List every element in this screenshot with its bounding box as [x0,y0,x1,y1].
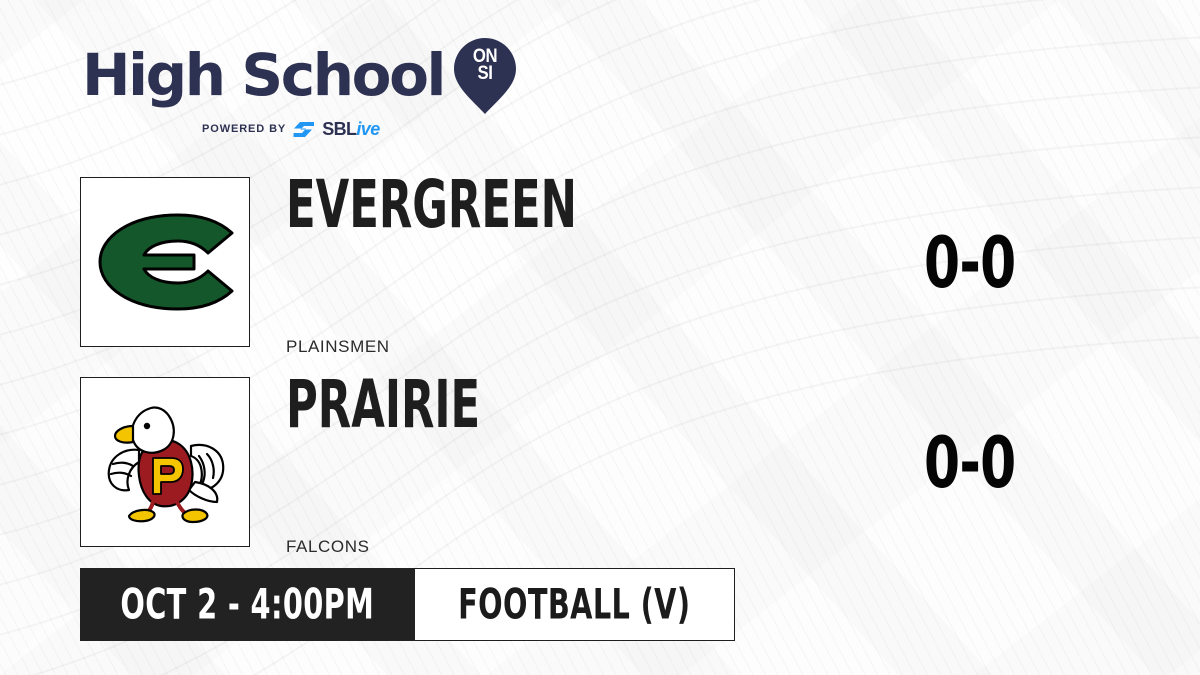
sblive-s-mark-icon [293,121,315,138]
score-away-value: 0-0 [924,428,1015,498]
scoreboard-graphic: High School ON SI POWERED BY SBLive [0,0,1200,675]
team-name-home: EVERGREEN [286,172,577,238]
game-datetime-text: OCT 2 - 4:00PM [121,584,375,626]
brand-title: High School [82,46,444,104]
location-pin-icon: ON SI [454,38,516,114]
partner-wordmark-ive: ive [356,119,379,139]
game-sport-block: FOOTBALL (V) [415,568,735,641]
team-mascot-away: FALCONS [286,537,370,557]
evergreen-plainsmen-logo [80,177,250,347]
matchup-row-home: EVERGREEN PLAINSMEN 0-0 [0,163,1200,363]
game-sport-text: FOOTBALL (V) [458,584,690,626]
powered-by-label: POWERED BY [202,123,286,135]
powered-by-row: POWERED BY SBLive [202,120,502,138]
team-mascot-home: PLAINSMEN [286,337,390,357]
pin-line-si: SI [458,65,513,82]
game-info-banner: OCT 2 - 4:00PM FOOTBALL (V) [80,568,735,641]
partner-wordmark: SBLive [322,120,379,138]
score-home-value: 0-0 [924,228,1015,298]
partner-wordmark-sbl: SBL [322,119,356,139]
team-name-away: PRAIRIE [286,372,480,438]
score-away: 0-0 [848,363,1092,563]
matchup-row-away: PRAIRIE FALCONS 0-0 [0,363,1200,563]
prairie-falcons-logo [80,377,250,547]
team-text-home: EVERGREEN PLAINSMEN [286,163,846,363]
game-datetime-block: OCT 2 - 4:00PM [80,568,415,641]
team-text-away: PRAIRIE FALCONS [286,363,846,563]
brand-logo: High School ON SI POWERED BY SBLive [82,36,502,138]
score-home: 0-0 [848,163,1092,363]
